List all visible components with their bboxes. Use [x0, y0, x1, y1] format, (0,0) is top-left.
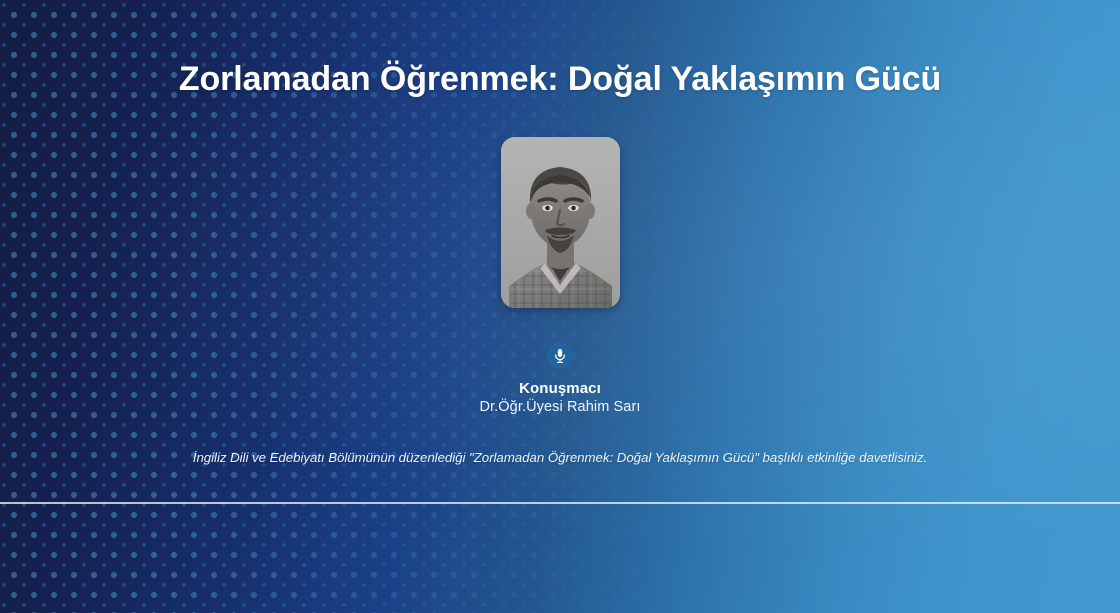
speaker-role-label: Konuşmacı — [0, 379, 1120, 398]
poster-footer: 20.05.2025 13.00 AB403 İSÜ İSTİNYE ÜNİVE… — [0, 503, 1120, 613]
speaker-photo — [501, 137, 620, 308]
page-title: Zorlamadan Öğrenmek: Doğal Yaklaşımın Gü… — [0, 57, 1120, 102]
speaker-name: Dr.Öğr.Üyesi Rahim Sarı — [0, 398, 1120, 417]
event-poster: Zorlamadan Öğrenmek: Doğal Yaklaşımın Gü… — [0, 0, 1120, 613]
event-description: İngiliz Dili ve Edebiyatı Bölümünün düze… — [0, 448, 1120, 467]
microphone-icon — [547, 343, 573, 369]
